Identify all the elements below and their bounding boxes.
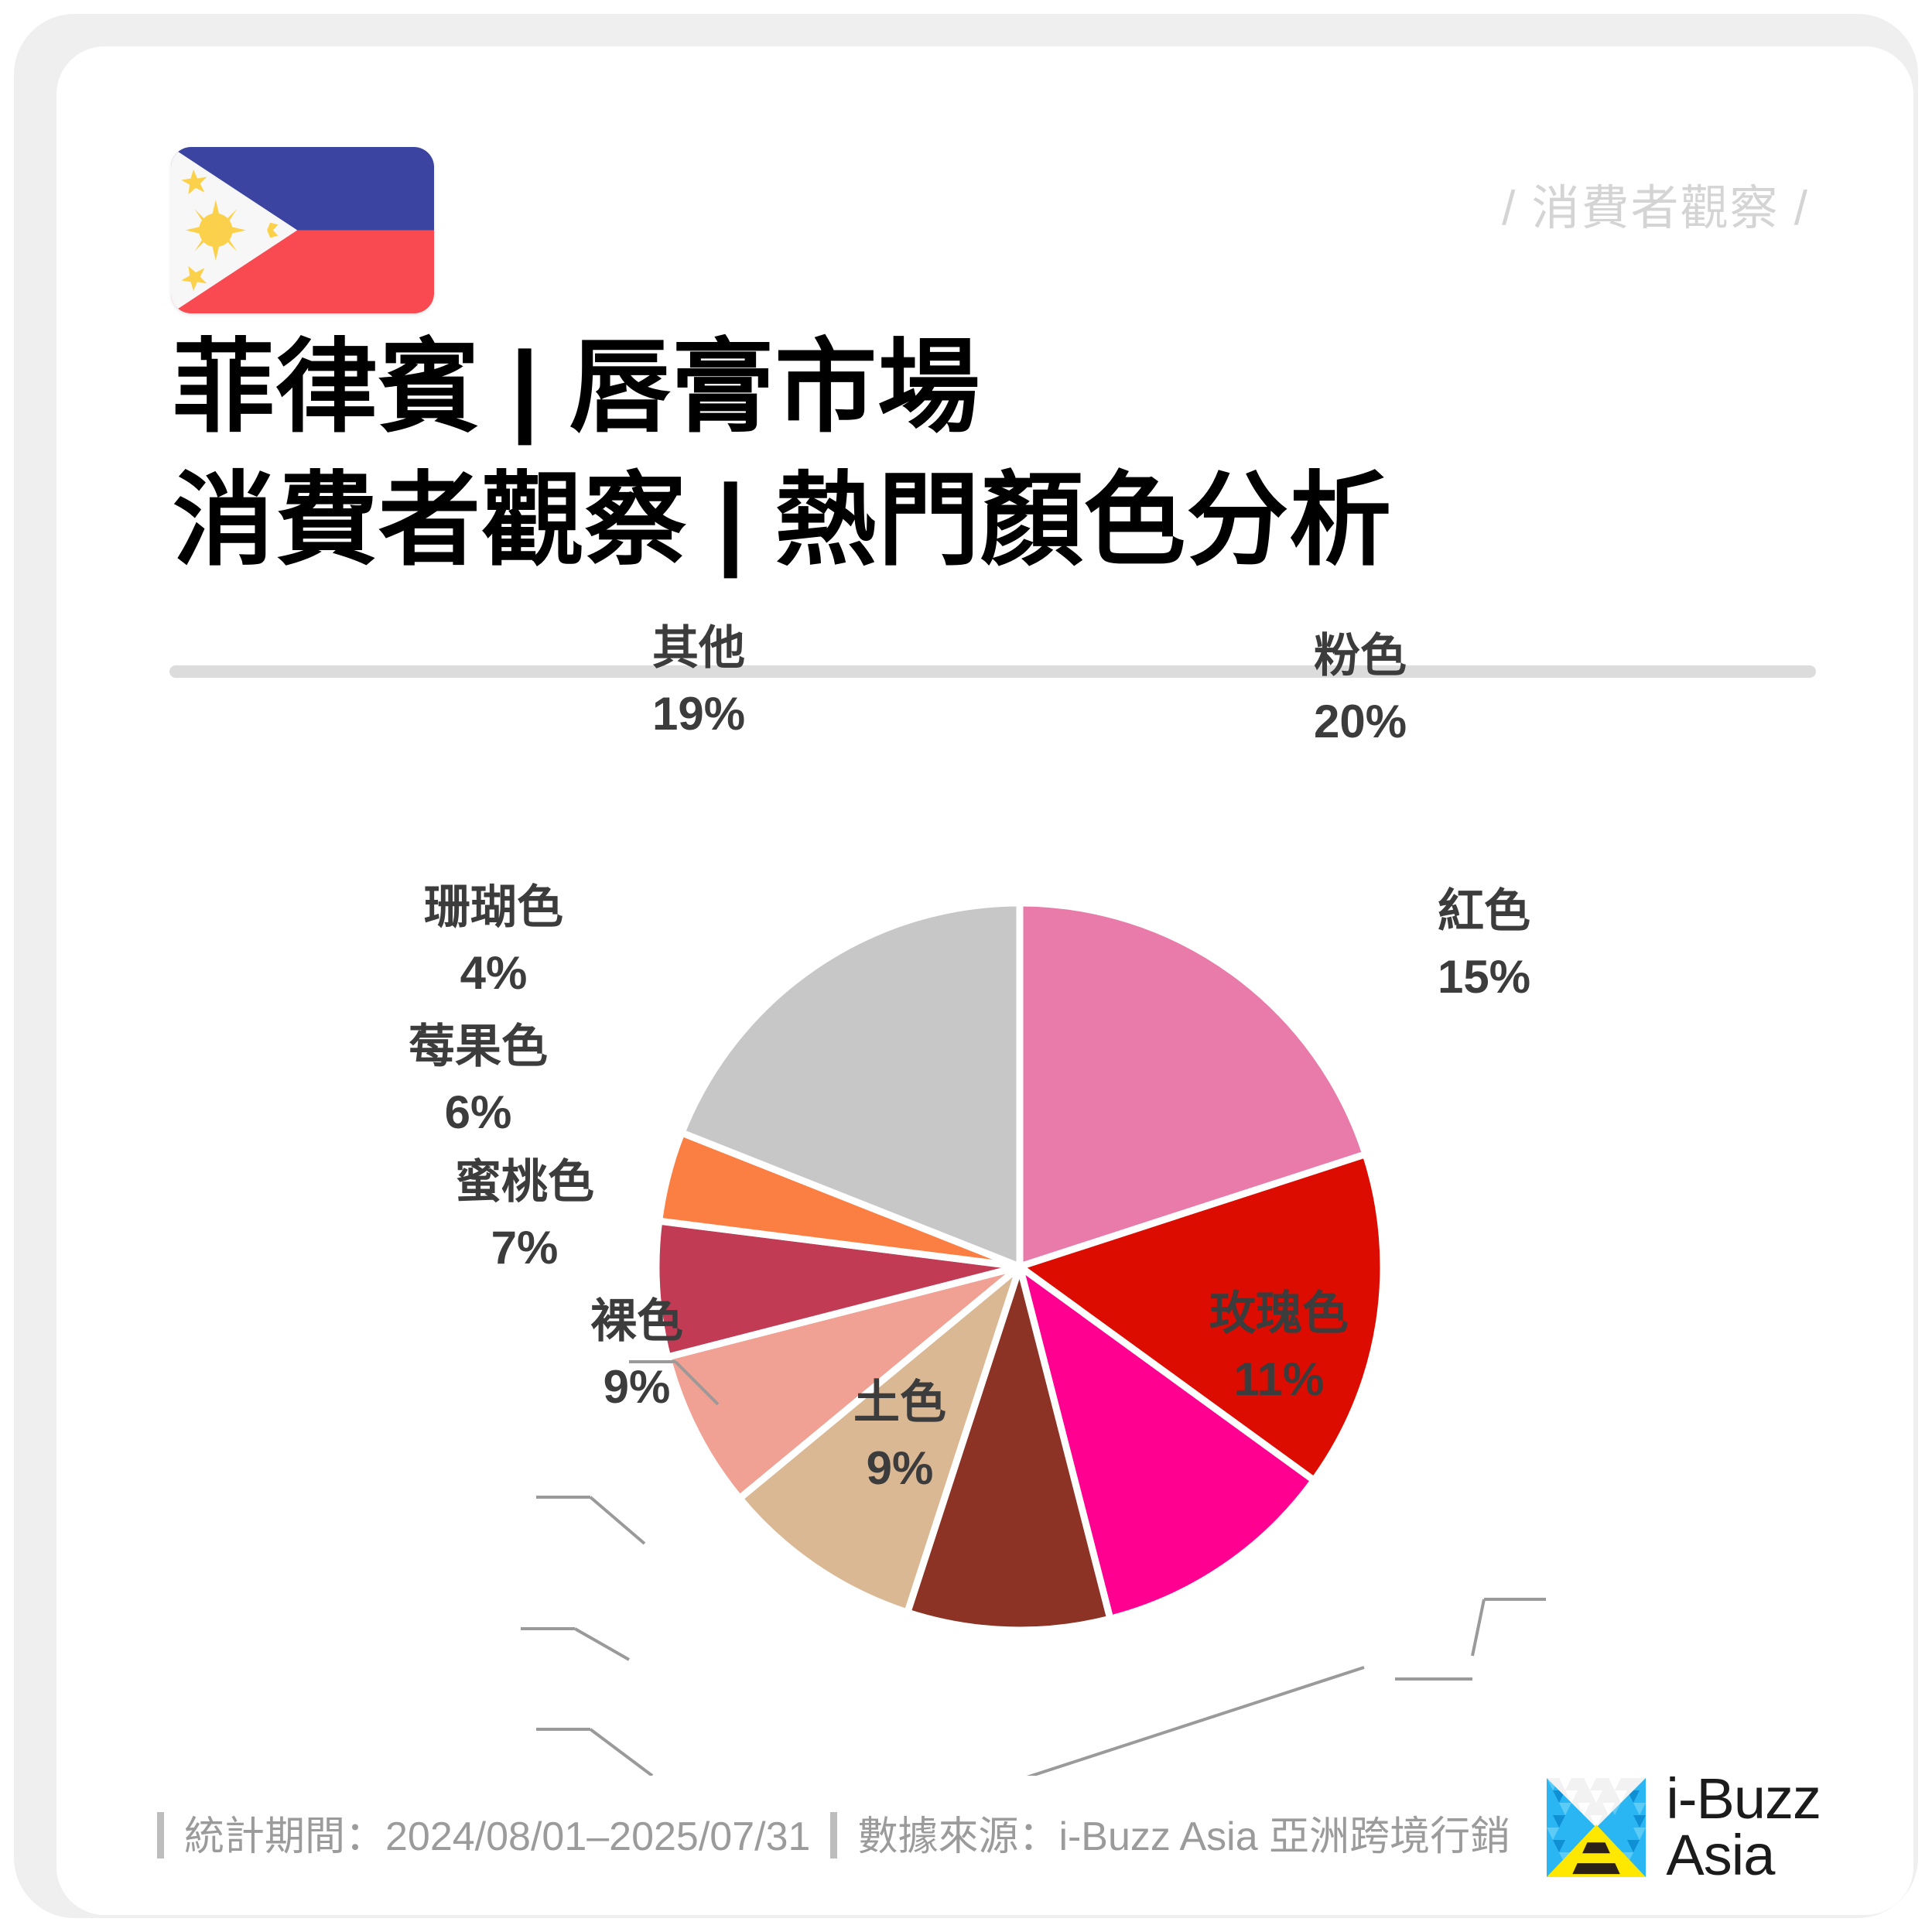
pie-label-peach-value: 7% — [412, 1215, 637, 1281]
pie-label-peach-name: 蜜桃色 — [455, 1156, 594, 1208]
pie-label-pink: 粉色 20% — [1248, 623, 1472, 754]
pie-label-coral: 珊瑚色 4% — [381, 874, 606, 1006]
pie-label-other-name: 其他 — [652, 622, 745, 674]
logo-line-1: i-Buzz — [1666, 1771, 1821, 1828]
ibuzz-logo-text: i-Buzz Asia — [1666, 1771, 1821, 1883]
pie-label-red-value: 15% — [1372, 944, 1596, 1010]
pie-label-berry-value: 6% — [366, 1079, 590, 1145]
pie-chart: 其他 19% 珊瑚色 4% 莓果色 6% 蜜桃色 7% 裸色 9% 土色 — [56, 708, 1913, 1776]
footer-period: 統計期間：2024/08/01–2025/07/31 — [184, 1804, 810, 1862]
pie-label-coral-name: 珊瑚色 — [424, 881, 563, 933]
pie-label-rose-name: 玫瑰色 — [1209, 1287, 1349, 1339]
pie-label-berry: 莓果色 6% — [366, 1014, 590, 1145]
pie-label-red: 紅色 15% — [1372, 878, 1596, 1010]
ibuzz-logo-icon — [1547, 1778, 1646, 1877]
pie-label-coral-value: 4% — [381, 940, 606, 1006]
title-line-2: 消費者觀察 | 熱門顏色分析 — [173, 454, 1821, 587]
footer-bar-mid-icon — [830, 1812, 837, 1858]
pie-label-nude-name: 裸色 — [590, 1295, 683, 1347]
footer-meta: 統計期間：2024/08/01–2025/07/31 數據來源：i-Buzz A… — [157, 1804, 1510, 1862]
pie-label-pink-value: 20% — [1248, 689, 1472, 754]
pie-label-other-value: 19% — [598, 681, 799, 747]
infographic-card: / 消費者觀察 / 菲律賓 | 唇膏市場 消費者觀察 | 熱門顏色分析 — [56, 46, 1913, 1915]
pie-label-earth-name: 土色 — [853, 1376, 946, 1428]
pie-label-earth: 土色 9% — [792, 1369, 1008, 1501]
pie-label-earth-value: 9% — [792, 1435, 1008, 1501]
footer: 統計期間：2024/08/01–2025/07/31 數據來源：i-Buzz A… — [56, 1760, 1913, 1915]
pie-chart-svg — [56, 708, 1913, 1776]
ibuzz-asia-logo: i-Buzz Asia — [1547, 1771, 1821, 1883]
pie-label-rose: 玫瑰色 11% — [1155, 1281, 1403, 1412]
pie-label-berry-name: 莓果色 — [409, 1021, 548, 1072]
section-tagline: / 消費者觀察 / — [1502, 169, 1809, 238]
pie-label-other: 其他 19% — [598, 615, 799, 747]
outer-frame: / 消費者觀察 / 菲律賓 | 唇膏市場 消費者觀察 | 熱門顏色分析 — [14, 14, 1918, 1918]
footer-source: 數據來源：i-Buzz Asia 亞洲跨境行銷 — [857, 1804, 1510, 1862]
title-divider — [169, 665, 1816, 678]
pie-label-red-name: 紅色 — [1438, 885, 1530, 937]
footer-bar-left-icon — [157, 1812, 164, 1858]
title-line-1: 菲律賓 | 唇膏市場 — [173, 321, 1821, 454]
pie-label-nude: 裸色 9% — [528, 1288, 745, 1420]
philippines-flag-icon — [171, 147, 434, 313]
pie-label-peach: 蜜桃色 7% — [412, 1149, 637, 1281]
pie-label-nude-value: 9% — [528, 1354, 745, 1420]
pie-label-rose-value: 11% — [1155, 1346, 1403, 1412]
logo-line-2: Asia — [1666, 1828, 1821, 1884]
pie-slices — [656, 903, 1383, 1630]
page-title: 菲律賓 | 唇膏市場 消費者觀察 | 熱門顏色分析 — [173, 321, 1821, 586]
pie-label-pink-name: 粉色 — [1314, 630, 1407, 682]
